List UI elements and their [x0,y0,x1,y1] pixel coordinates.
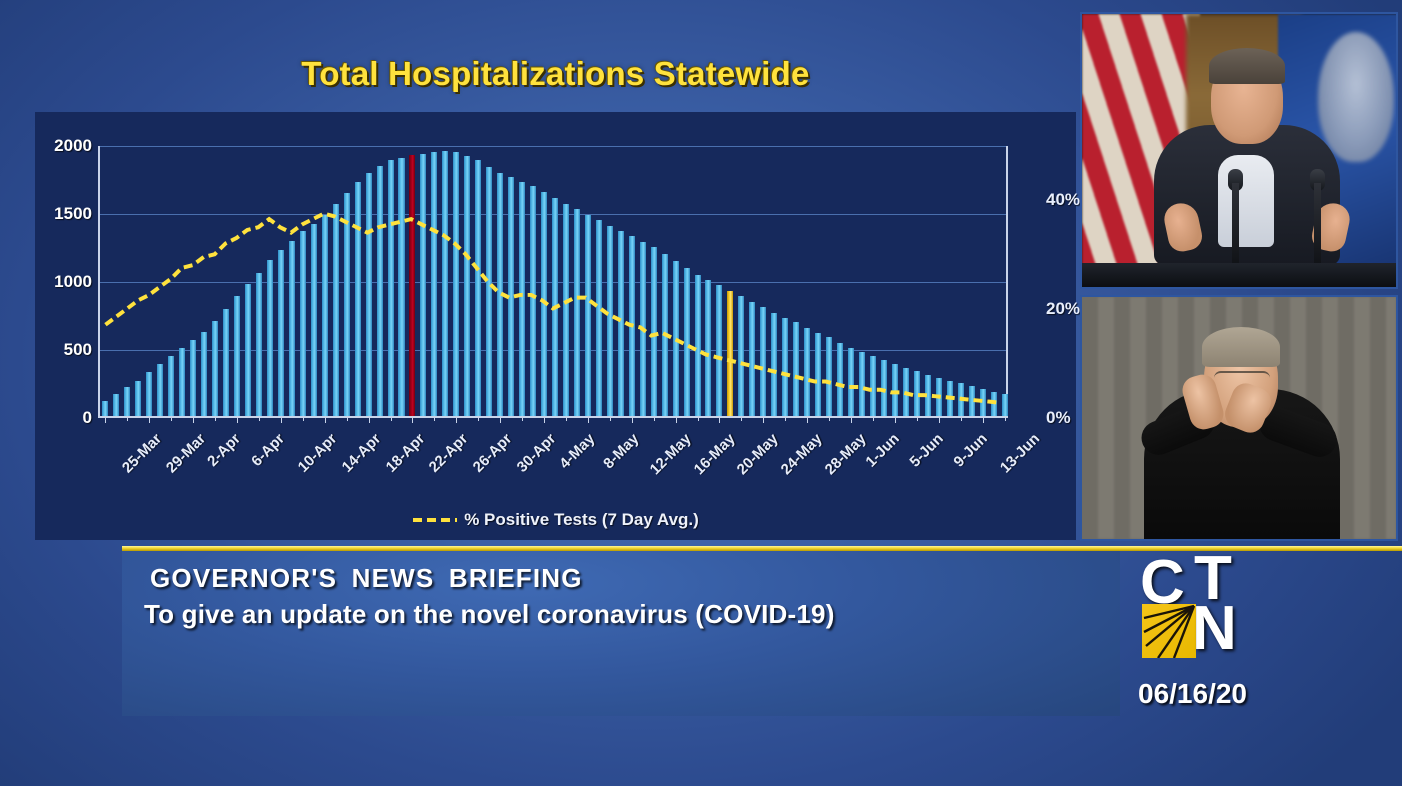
x-axis-tick-label: 12-May [646,430,694,478]
x-axis-minor-tick [961,416,962,421]
microphone-stand-left [1232,183,1239,269]
x-axis-tick-label: 20-May [734,430,782,478]
x-axis-tick [237,416,238,423]
bar [892,364,898,416]
bar [870,356,876,416]
bar [124,387,130,416]
y-axis-right-tick-label: 20% [1046,299,1080,319]
x-axis-minor-tick [917,416,918,421]
bar [179,348,185,416]
x-axis-tick [544,416,545,423]
bar [278,250,284,416]
plot-area: 0500100015002000 0%20%40% 25-Mar29-Mar2-… [98,146,1008,418]
x-axis-tick-label: 4-May [556,430,598,472]
x-axis-tick-label: 29-Mar [163,430,209,476]
peak-marker [409,155,415,416]
reopening-marker [727,291,733,416]
bar [519,182,525,416]
bar [695,275,701,416]
x-axis-minor-tick [478,416,479,421]
broadcast-date: 06/16/20 [1138,678,1247,710]
bar [256,273,262,416]
bar [936,378,942,416]
bar [508,177,514,416]
x-axis-tick [149,416,150,423]
x-axis-minor-tick [785,416,786,421]
bar [420,154,426,416]
x-axis-tick [719,416,720,423]
bar [673,261,679,416]
x-axis-tick [939,416,940,423]
bar [684,268,690,416]
bar [662,254,668,416]
bar [596,220,602,416]
bar [201,332,207,416]
y-axis-tick-label: 1000 [54,272,92,292]
page-title: Total Hospitalizations Statewide [35,55,1076,93]
bar [300,231,306,416]
bar [947,381,953,416]
x-axis-tick-label: 24-May [778,430,826,478]
ctn-logo: C T N [1140,552,1280,672]
banner-subhead: To give an update on the novel coronavir… [144,599,835,630]
x-axis-minor-tick [741,416,742,421]
x-axis-tick-label: 25-Mar [119,430,165,476]
governor-podium-video[interactable] [1080,12,1398,289]
x-axis-tick-label: 2-Apr [204,430,244,470]
bar [442,151,448,416]
x-axis-minor-tick [873,416,874,421]
x-axis-tick-label: 14-Apr [338,430,384,476]
x-axis-tick-label: 9-Jun [950,430,990,470]
bar [925,375,931,416]
x-axis-tick-label: 28-May [822,430,870,478]
bar [344,193,350,416]
x-axis-minor-tick [698,416,699,421]
state-seal [1318,32,1394,162]
bar [146,372,152,416]
y-axis-tick-label: 0 [83,408,92,428]
bar [804,328,810,416]
x-axis-tick [456,416,457,423]
bar [497,173,503,416]
x-axis-minor-tick [566,416,567,421]
x-axis-minor-tick [522,416,523,421]
speaker-hair [1209,48,1285,84]
y-axis-right-tick-label: 0% [1046,408,1071,428]
bar [157,364,163,416]
bar [826,337,832,416]
bar [903,368,909,416]
bar [464,156,470,416]
x-axis-minor-tick [654,416,655,421]
bar [541,192,547,416]
bar [1002,394,1008,416]
bar [640,242,646,416]
bar [267,260,273,416]
x-axis-tick [193,416,194,423]
x-axis-tick [851,416,852,423]
bar [574,209,580,416]
microphone-stand-right [1314,183,1321,269]
bar [245,284,251,416]
bar [563,204,569,416]
x-axis-tick-label: 10-Apr [295,430,341,476]
x-axis-tick [588,416,589,423]
bar [289,241,295,416]
bar [980,389,986,416]
x-axis-minor-tick [391,416,392,421]
bar [958,383,964,416]
bar [760,307,766,416]
bar [322,215,328,416]
bar [234,296,240,416]
legend-label: % Positive Tests (7 Day Avg.) [464,510,699,530]
bar [530,186,536,416]
x-axis-tick-label: 22-Apr [426,430,472,476]
x-axis-tick-label: 16-May [690,430,738,478]
bar [212,321,218,416]
bar [333,204,339,416]
bar [135,381,141,416]
x-axis-minor-tick [171,416,172,421]
bar [552,198,558,416]
bar [190,340,196,416]
legend-dash-icon [412,514,458,526]
x-axis-tick [895,416,896,423]
bar [914,371,920,416]
speaker-shirt [1218,155,1274,247]
y-axis-tick-label: 1500 [54,204,92,224]
x-axis-minor-tick [1005,416,1006,421]
x-axis-tick [281,416,282,423]
x-axis-minor-tick [610,416,611,421]
x-axis-tick [412,416,413,423]
x-axis-tick [807,416,808,423]
x-axis-tick-label: 8-May [600,430,642,472]
bar [113,394,119,416]
x-axis-tick [325,416,326,423]
bar [607,226,613,416]
bar [475,160,481,416]
bar [859,352,865,416]
bar [881,360,887,416]
bar [431,152,437,416]
bar [969,386,975,416]
bar [311,224,317,416]
bar [398,158,404,416]
bar [168,356,174,416]
bar [848,348,854,416]
y-axis-right-tick-label: 40% [1046,190,1080,210]
x-axis-minor-tick [434,416,435,421]
podium [1082,263,1396,287]
asl-interpreter-video[interactable] [1080,295,1398,541]
x-axis-tick [763,416,764,423]
bar [377,166,383,416]
bar [388,160,394,416]
x-axis-tick-label: 6-Apr [248,430,288,470]
x-axis-minor-tick [127,416,128,421]
chart-panel: 0500100015002000 0%20%40% 25-Mar29-Mar2-… [35,112,1076,540]
bar [782,318,788,416]
y-axis-tick-label: 2000 [54,136,92,156]
bar [629,236,635,416]
bar [771,313,777,416]
lower-third-banner: GOVERNOR'S NEWS BRIEFING To give an upda… [122,551,1120,716]
y-axis-tick-label: 500 [64,340,92,360]
bar [991,392,997,416]
bar [815,333,821,416]
bar [705,280,711,416]
x-axis-tick-label: 18-Apr [382,430,428,476]
ctn-logo-letter-n: N [1192,598,1237,660]
chart-legend: % Positive Tests (7 Day Avg.) [35,510,1076,530]
bar [486,167,492,416]
x-axis-minor-tick [259,416,260,421]
x-axis-tick [105,416,106,423]
bar [366,173,372,416]
x-axis-minor-tick [829,416,830,421]
bar [453,152,459,416]
x-axis-tick [369,416,370,423]
x-axis-tick [500,416,501,423]
bar [793,322,799,416]
bar [585,215,591,416]
sunburst-icon [1142,604,1196,658]
bar [837,343,843,416]
x-axis-tick [676,416,677,423]
x-axis-tick-label: 1-Jun [862,430,902,470]
x-axis-tick-label: 5-Jun [906,430,946,470]
bar [651,247,657,416]
x-axis-minor-tick [215,416,216,421]
bar [355,182,361,416]
banner-headline: GOVERNOR'S NEWS BRIEFING [150,563,583,594]
interpreter-hair [1202,327,1280,367]
bar [223,309,229,416]
x-axis-minor-tick [303,416,304,421]
bar [618,231,624,416]
x-axis-tick-label: 13-Jun [996,430,1042,476]
x-axis-tick-label: 26-Apr [470,430,516,476]
x-axis-tick-label: 30-Apr [514,430,560,476]
bar-series [100,146,1006,416]
bar [738,296,744,416]
bar [102,401,108,416]
bar [749,302,755,416]
bar [716,285,722,416]
x-axis-minor-tick [347,416,348,421]
x-axis-tick [983,416,984,423]
x-axis-tick [632,416,633,423]
